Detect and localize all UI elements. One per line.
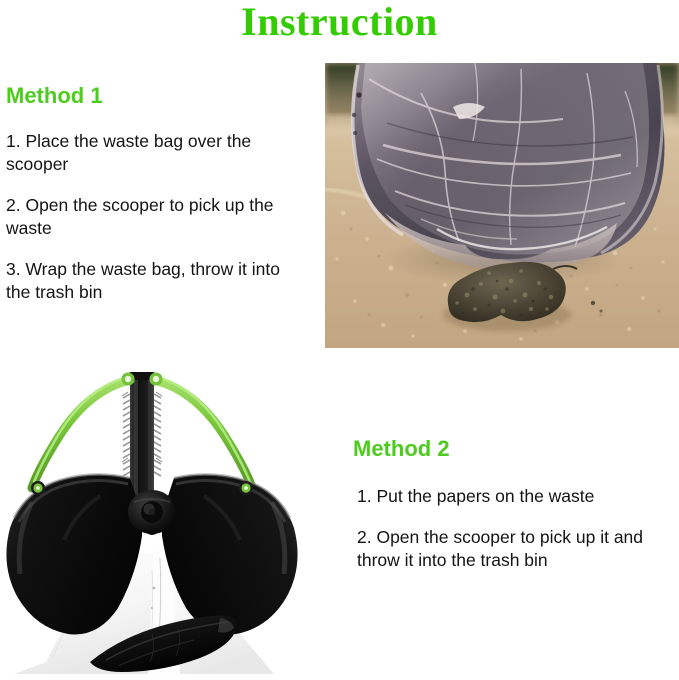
method-2-step-2: 2. Open the scooper to pick up it and th… [353, 526, 673, 572]
page-title: Instruction [0, 0, 679, 44]
method-1-step-3: 3. Wrap the waste bag, throw it into the… [6, 258, 306, 304]
method-1-step-1: 1. Place the waste bag over the scooper [6, 130, 306, 176]
method-2-steps: 1. Put the papers on the waste 2. Open t… [353, 485, 673, 572]
method-2-heading: Method 2 [353, 437, 673, 461]
photo-bag-over-waste [325, 63, 679, 348]
method-1-heading: Method 1 [6, 84, 306, 108]
product-scooper [2, 362, 322, 678]
method-1-steps: 1. Place the waste bag over the scooper … [6, 130, 306, 304]
method-1-block: Method 1 1. Place the waste bag over the… [6, 84, 306, 304]
method-1-step-2: 2. Open the scooper to pick up the waste [6, 194, 306, 240]
method-2-block: Method 2 1. Put the papers on the waste … [353, 437, 673, 572]
method-2-step-1: 1. Put the papers on the waste [353, 485, 673, 508]
